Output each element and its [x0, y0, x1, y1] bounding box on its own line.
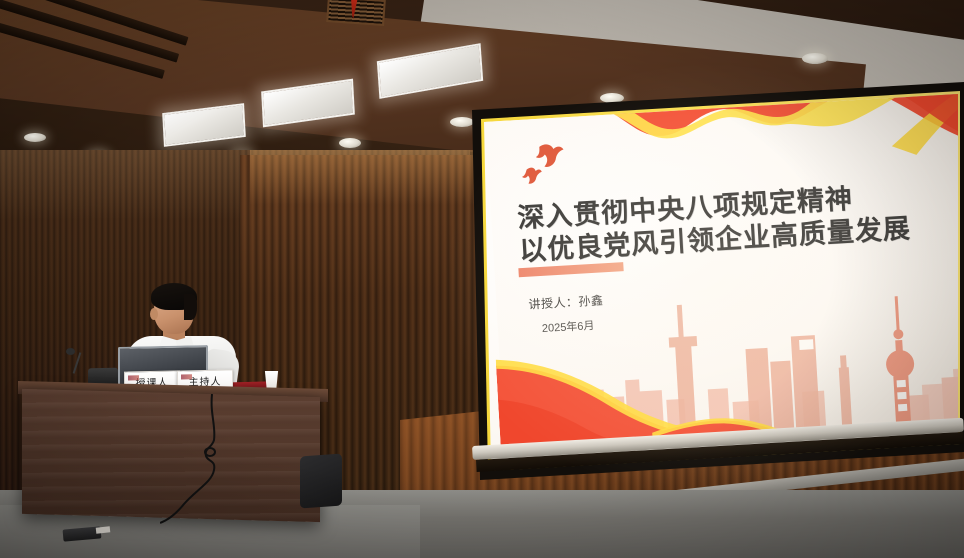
- nameplate-logo-icon: [128, 375, 139, 380]
- ceiling-downlight: [339, 138, 361, 148]
- person-hair-side: [184, 294, 197, 320]
- projection-screen[interactable]: 深入贯彻中央八项规定精神 以优良党风引领企业高质量发展 讲授人：孙鑫 2025年…: [466, 82, 964, 482]
- slide-canvas: 深入贯彻中央八项规定精神 以优良党风引领企业高质量发展 讲授人：孙鑫 2025年…: [484, 82, 964, 451]
- photo-scene: 深入贯彻中央八项规定精神 以优良党风引领企业高质量发展 讲授人：孙鑫 2025年…: [0, 0, 964, 558]
- slide-date: 2025年6月: [541, 317, 594, 336]
- power-cable: [160, 394, 250, 524]
- nameplate-logo-icon: [181, 374, 192, 379]
- dove-icon: [517, 139, 580, 192]
- bag: [300, 454, 342, 509]
- ceiling-downlight: [24, 133, 46, 142]
- ceiling-downlight: [802, 53, 828, 64]
- person-ear: [150, 308, 158, 320]
- microphone-head: [66, 348, 75, 355]
